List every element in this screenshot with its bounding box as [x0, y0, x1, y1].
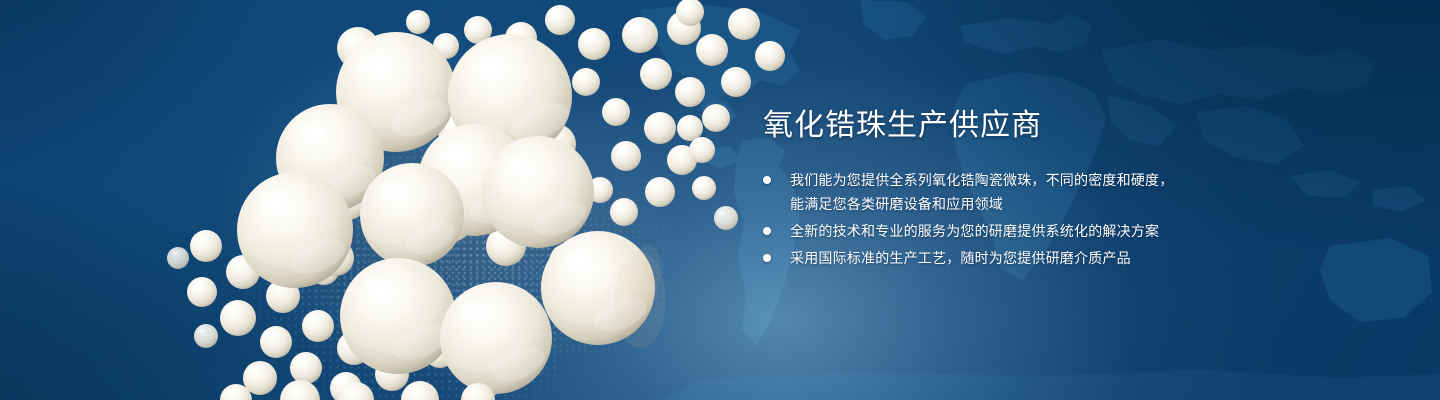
hero-banner: 氧化锆珠生产供应商 我们能为您提供全系列氧化锆陶瓷微珠，不同的密度和硬度， 能满… [0, 0, 1440, 400]
bullet-dot-icon [763, 227, 771, 235]
bullet-item-3-line-1: 采用国际标准的生产工艺，随时为您提供研磨介质产品 [790, 246, 1323, 270]
bullet-item-1-line-2: 能满足您各类研磨设备和应用领域 [790, 192, 1323, 216]
bullet-item-2: 全新的技术和专业的服务为您的研磨提供系统化的解决方案 [763, 219, 1323, 243]
bullet-dot-icon [763, 176, 771, 184]
bullet-item-1-line-1: 我们能为您提供全系列氧化锆陶瓷微珠，不同的密度和硬度， [790, 168, 1323, 192]
bullet-item-2-line-1: 全新的技术和专业的服务为您的研磨提供系统化的解决方案 [790, 219, 1323, 243]
bullet-dot-icon [763, 254, 771, 262]
bullet-item-3: 采用国际标准的生产工艺，随时为您提供研磨介质产品 [763, 246, 1323, 270]
banner-text-block: 氧化锆珠生产供应商 我们能为您提供全系列氧化锆陶瓷微珠，不同的密度和硬度， 能满… [763, 106, 1323, 273]
banner-headline: 氧化锆珠生产供应商 [763, 106, 1323, 146]
bullet-item-1: 我们能为您提供全系列氧化锆陶瓷微珠，不同的密度和硬度， 能满足您各类研磨设备和应… [763, 168, 1323, 216]
banner-bullet-list: 我们能为您提供全系列氧化锆陶瓷微珠，不同的密度和硬度， 能满足您各类研磨设备和应… [763, 168, 1323, 270]
